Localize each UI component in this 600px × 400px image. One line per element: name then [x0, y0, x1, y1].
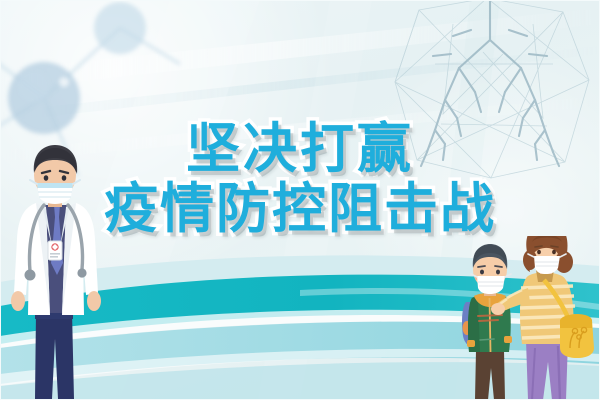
family-characters [460, 236, 600, 400]
boy-character [462, 244, 512, 400]
poster-root: 坚决打赢 疫情防控阻击战 [0, 0, 600, 400]
lungs-icon [383, 0, 598, 184]
doctor-character [2, 143, 110, 400]
